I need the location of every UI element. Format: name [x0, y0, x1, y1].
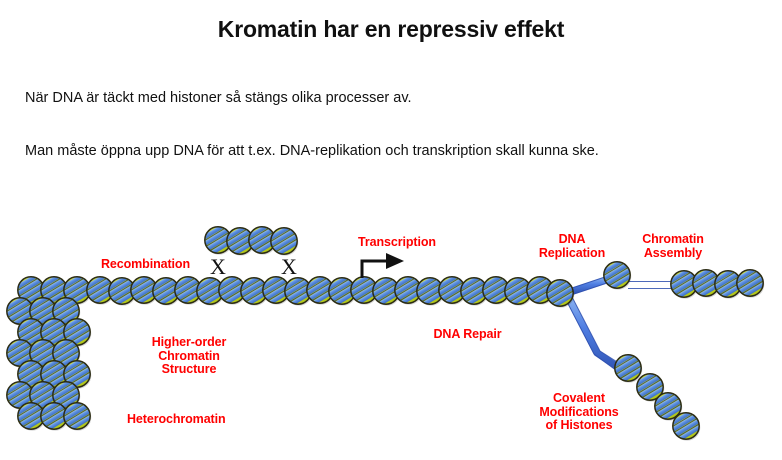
- label-dna-replication: DNA Replication: [528, 233, 616, 260]
- body-paragraph-2: Man måste öppna upp DNA för att t.ex. DN…: [25, 143, 599, 159]
- body-paragraph-1: När DNA är täckt med histoner så stängs …: [25, 90, 412, 106]
- crossover-x-left: X: [210, 256, 226, 278]
- crossover-x-right: X: [281, 256, 297, 278]
- label-chromatin-assembly: Chromatin Assembly: [627, 233, 719, 260]
- label-recombination: Recombination: [88, 258, 203, 272]
- label-transcription: Transcription: [344, 236, 450, 250]
- chromatin-assembly-strand: [597, 257, 769, 301]
- page-title: Kromatin har en repressiv effekt: [0, 16, 782, 43]
- transcription-start-arrow: [362, 253, 404, 278]
- heterochromatin-block: [0, 272, 96, 433]
- main-chromatin-fiber: [80, 272, 579, 310]
- label-dna-repair: DNA Repair: [420, 328, 515, 342]
- label-higher-order-chromatin-structure: Higher-order Chromatin Structure: [128, 336, 250, 377]
- label-covalent-modifications-of-histones: Covalent Modifications of Histones: [521, 392, 637, 433]
- label-heterochromatin: Heterochromatin: [127, 413, 262, 427]
- chromatin-processes-diagram: Recombination Transcription DNA Replicat…: [0, 205, 782, 460]
- recombination-duplex: [198, 222, 303, 258]
